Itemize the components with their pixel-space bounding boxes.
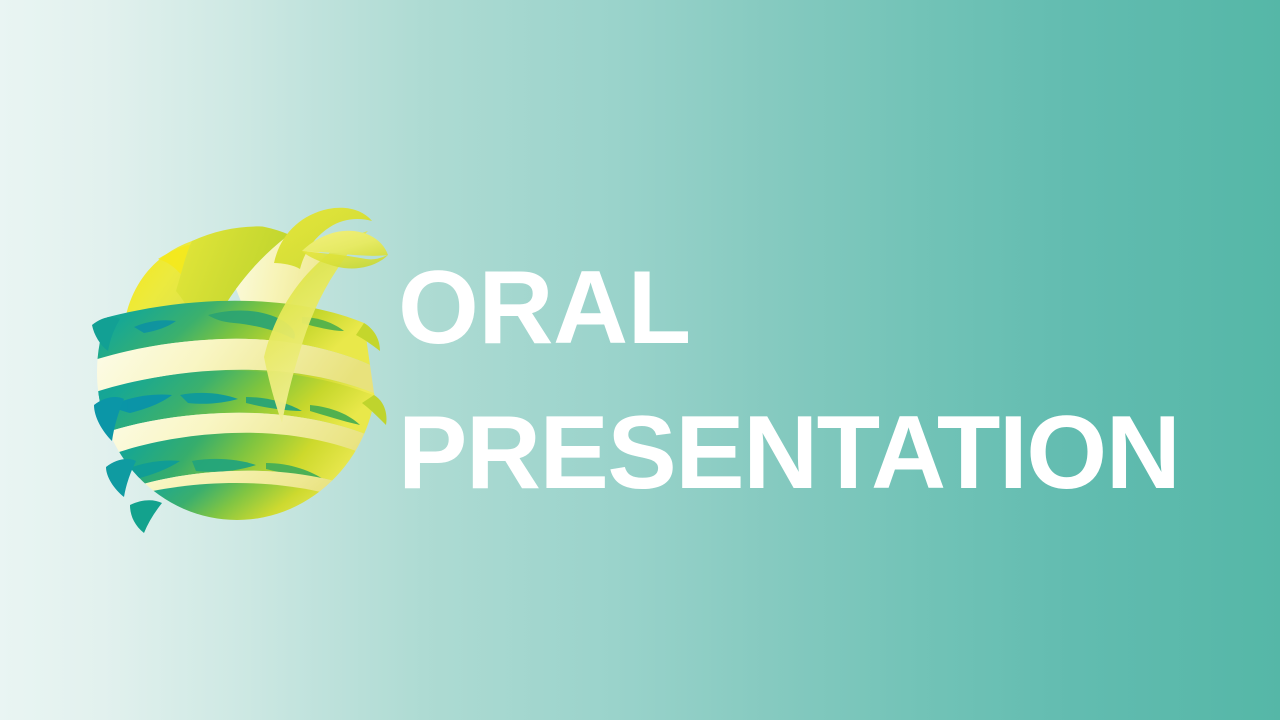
slide-title-line-1: ORAL [398, 236, 1218, 381]
slide-title-line-2: PRESENTATION [398, 381, 1218, 526]
presentation-slide: ORAL PRESENTATION [0, 0, 1280, 720]
globe-ribbon-leaf-logo [96, 205, 386, 520]
slide-title-block: ORAL PRESENTATION [398, 236, 1218, 526]
